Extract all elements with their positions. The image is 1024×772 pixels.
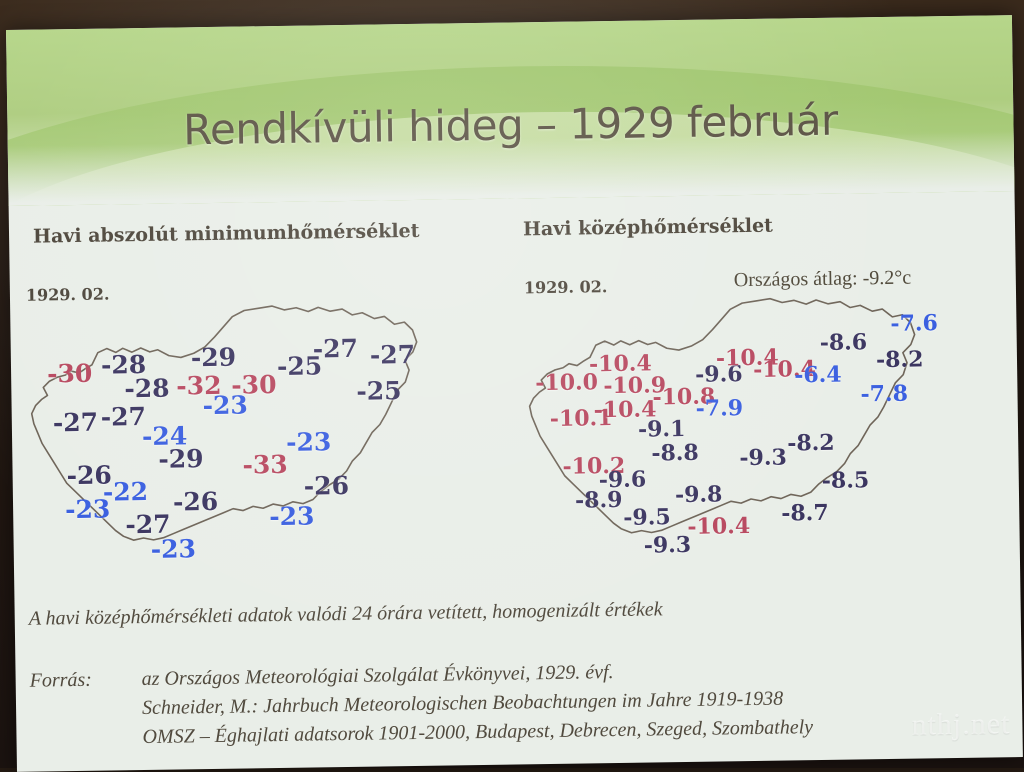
- map-value-label: -26: [304, 473, 350, 499]
- map-value-label: -25: [356, 378, 402, 404]
- map-value-label: -27: [370, 342, 416, 368]
- map-value-label: -7.9: [696, 397, 744, 420]
- map-value-label: -8.2: [876, 348, 924, 371]
- map-value-label: -23: [151, 536, 197, 562]
- right-map-value-layer: -10.0-10.4-10.9-10.8-9.6-10.4-10.4-6.4-8…: [516, 282, 940, 568]
- map-value-label: -23: [65, 497, 111, 523]
- map-value-label: -7.6: [890, 312, 938, 335]
- map-value-label: -8.5: [822, 469, 870, 492]
- map-value-label: -6.4: [794, 364, 842, 387]
- source-indent-3: [31, 743, 143, 745]
- map-value-label: -30: [47, 361, 93, 387]
- projected-slide-photo: Rendkívüli hideg – 1929 február Havi abs…: [0, 0, 1024, 768]
- map-value-label: -10.4: [687, 515, 750, 538]
- map-value-label: -9.8: [675, 483, 723, 506]
- map-value-label: -9.3: [739, 446, 787, 469]
- panel-right-title: Havi középhőmérséklet: [523, 215, 773, 241]
- map-value-label: -8.7: [781, 502, 829, 525]
- map-value-label: -33: [242, 452, 288, 478]
- map-value-label: -9.5: [623, 506, 671, 529]
- map-hungary-right: -10.0-10.4-10.9-10.8-9.6-10.4-10.4-6.4-8…: [516, 282, 940, 568]
- source-indent-2: [30, 714, 142, 716]
- map-value-label: -9.3: [644, 534, 692, 557]
- map-value-label: -29: [191, 345, 237, 371]
- left-map-value-layer: -30-28-28-29-32-23-30-25-27-27-25-27-27-…: [18, 290, 442, 576]
- source-label: Forrás:: [29, 668, 141, 693]
- source-line-2: Schneider, M.: Jahrbuch Meteorologischen…: [142, 688, 783, 720]
- map-value-label: -7.8: [860, 383, 908, 406]
- map-value-label: -23: [286, 429, 332, 455]
- map-value-label: -8.2: [787, 432, 835, 455]
- map-value-label: -29: [158, 446, 204, 472]
- source-block: Forrás:az Országos Meteorológiai Szolgál…: [29, 655, 1010, 757]
- map-hungary-left: -30-28-28-29-32-23-30-25-27-27-25-27-27-…: [18, 290, 442, 576]
- methodology-note: A havi középhőmérsékleti adatok valódi 2…: [29, 594, 979, 631]
- map-value-label: -8.9: [575, 489, 623, 512]
- map-value-label: -28: [124, 376, 170, 402]
- map-value-label: -27: [53, 410, 99, 436]
- map-value-label: -30: [231, 372, 277, 398]
- presentation-slide: Rendkívüli hideg – 1929 február Havi abs…: [6, 15, 1023, 772]
- source-line-3: OMSZ – Éghajlati adatsorok 1901-2000, Bu…: [142, 716, 813, 748]
- map-value-label: -9.1: [638, 418, 686, 441]
- map-value-label: -26: [173, 489, 219, 515]
- source-line-1: az Országos Meteorológiai Szolgálat Évkö…: [141, 661, 613, 690]
- map-value-label: -27: [125, 512, 171, 538]
- map-value-label: -27: [101, 404, 147, 430]
- map-value-label: -8.6: [820, 331, 868, 354]
- map-value-label: -23: [269, 503, 315, 529]
- map-value-label: -8.8: [651, 442, 699, 465]
- map-value-label: -27: [313, 336, 359, 362]
- panel-left-title: Havi abszolút minimumhőmérséklet: [33, 220, 420, 248]
